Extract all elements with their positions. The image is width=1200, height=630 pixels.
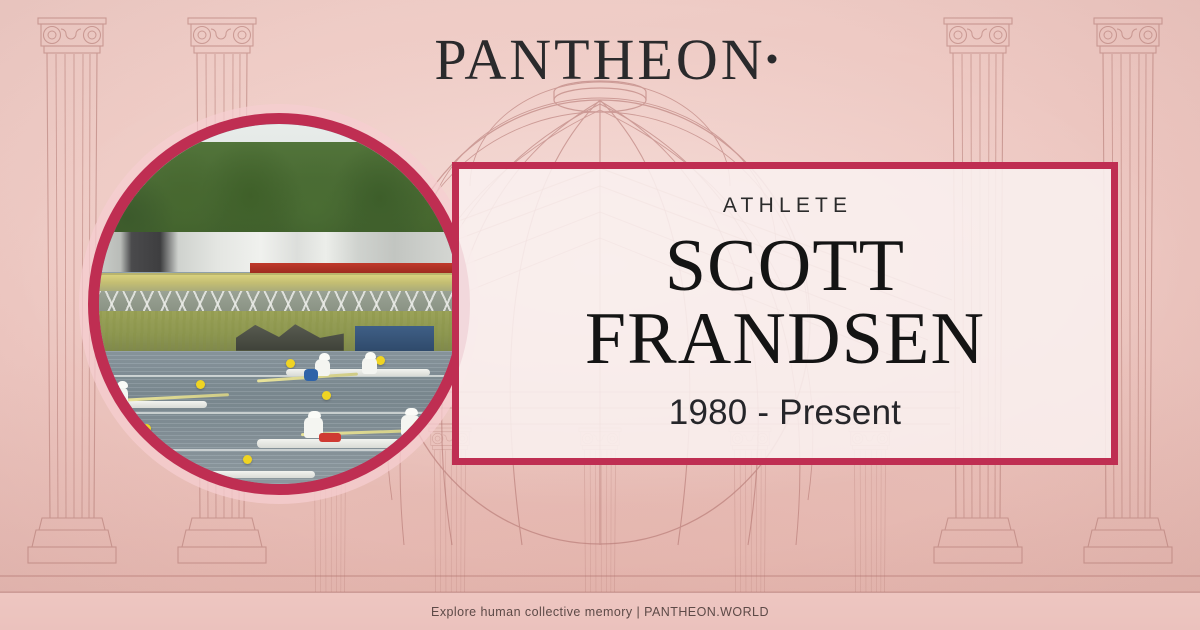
- occupation-label: ATHLETE: [718, 194, 853, 218]
- person-name-line-2: FRANDSEN: [585, 303, 985, 376]
- person-name-line-1: SCOTT: [585, 230, 985, 303]
- footer-text[interactable]: Explore human collective memory | PANTHE…: [431, 605, 769, 619]
- photo-red-railing: [250, 263, 459, 274]
- brand-wordmark-text: PANTHEON: [434, 26, 765, 93]
- photo-blue-platform: [355, 326, 434, 351]
- dot-in-letter-o-icon: [768, 54, 777, 63]
- brand-wordmark[interactable]: PANTHEON: [0, 26, 1200, 93]
- portrait[interactable]: [88, 113, 470, 495]
- page-title: SCOTT FRANDSEN: [585, 230, 985, 375]
- circular-photo-frame-icon: [88, 113, 470, 495]
- person-info-card: ATHLETE SCOTT FRANDSEN 1980 - Present: [452, 162, 1118, 465]
- photo-water: [99, 351, 459, 484]
- portrait-photo: [99, 124, 459, 484]
- footer: Explore human collective memory | PANTHE…: [0, 592, 1200, 630]
- life-span-label: 1980 - Present: [669, 393, 901, 433]
- pantheon-social-card: PANTHEON: [0, 0, 1200, 630]
